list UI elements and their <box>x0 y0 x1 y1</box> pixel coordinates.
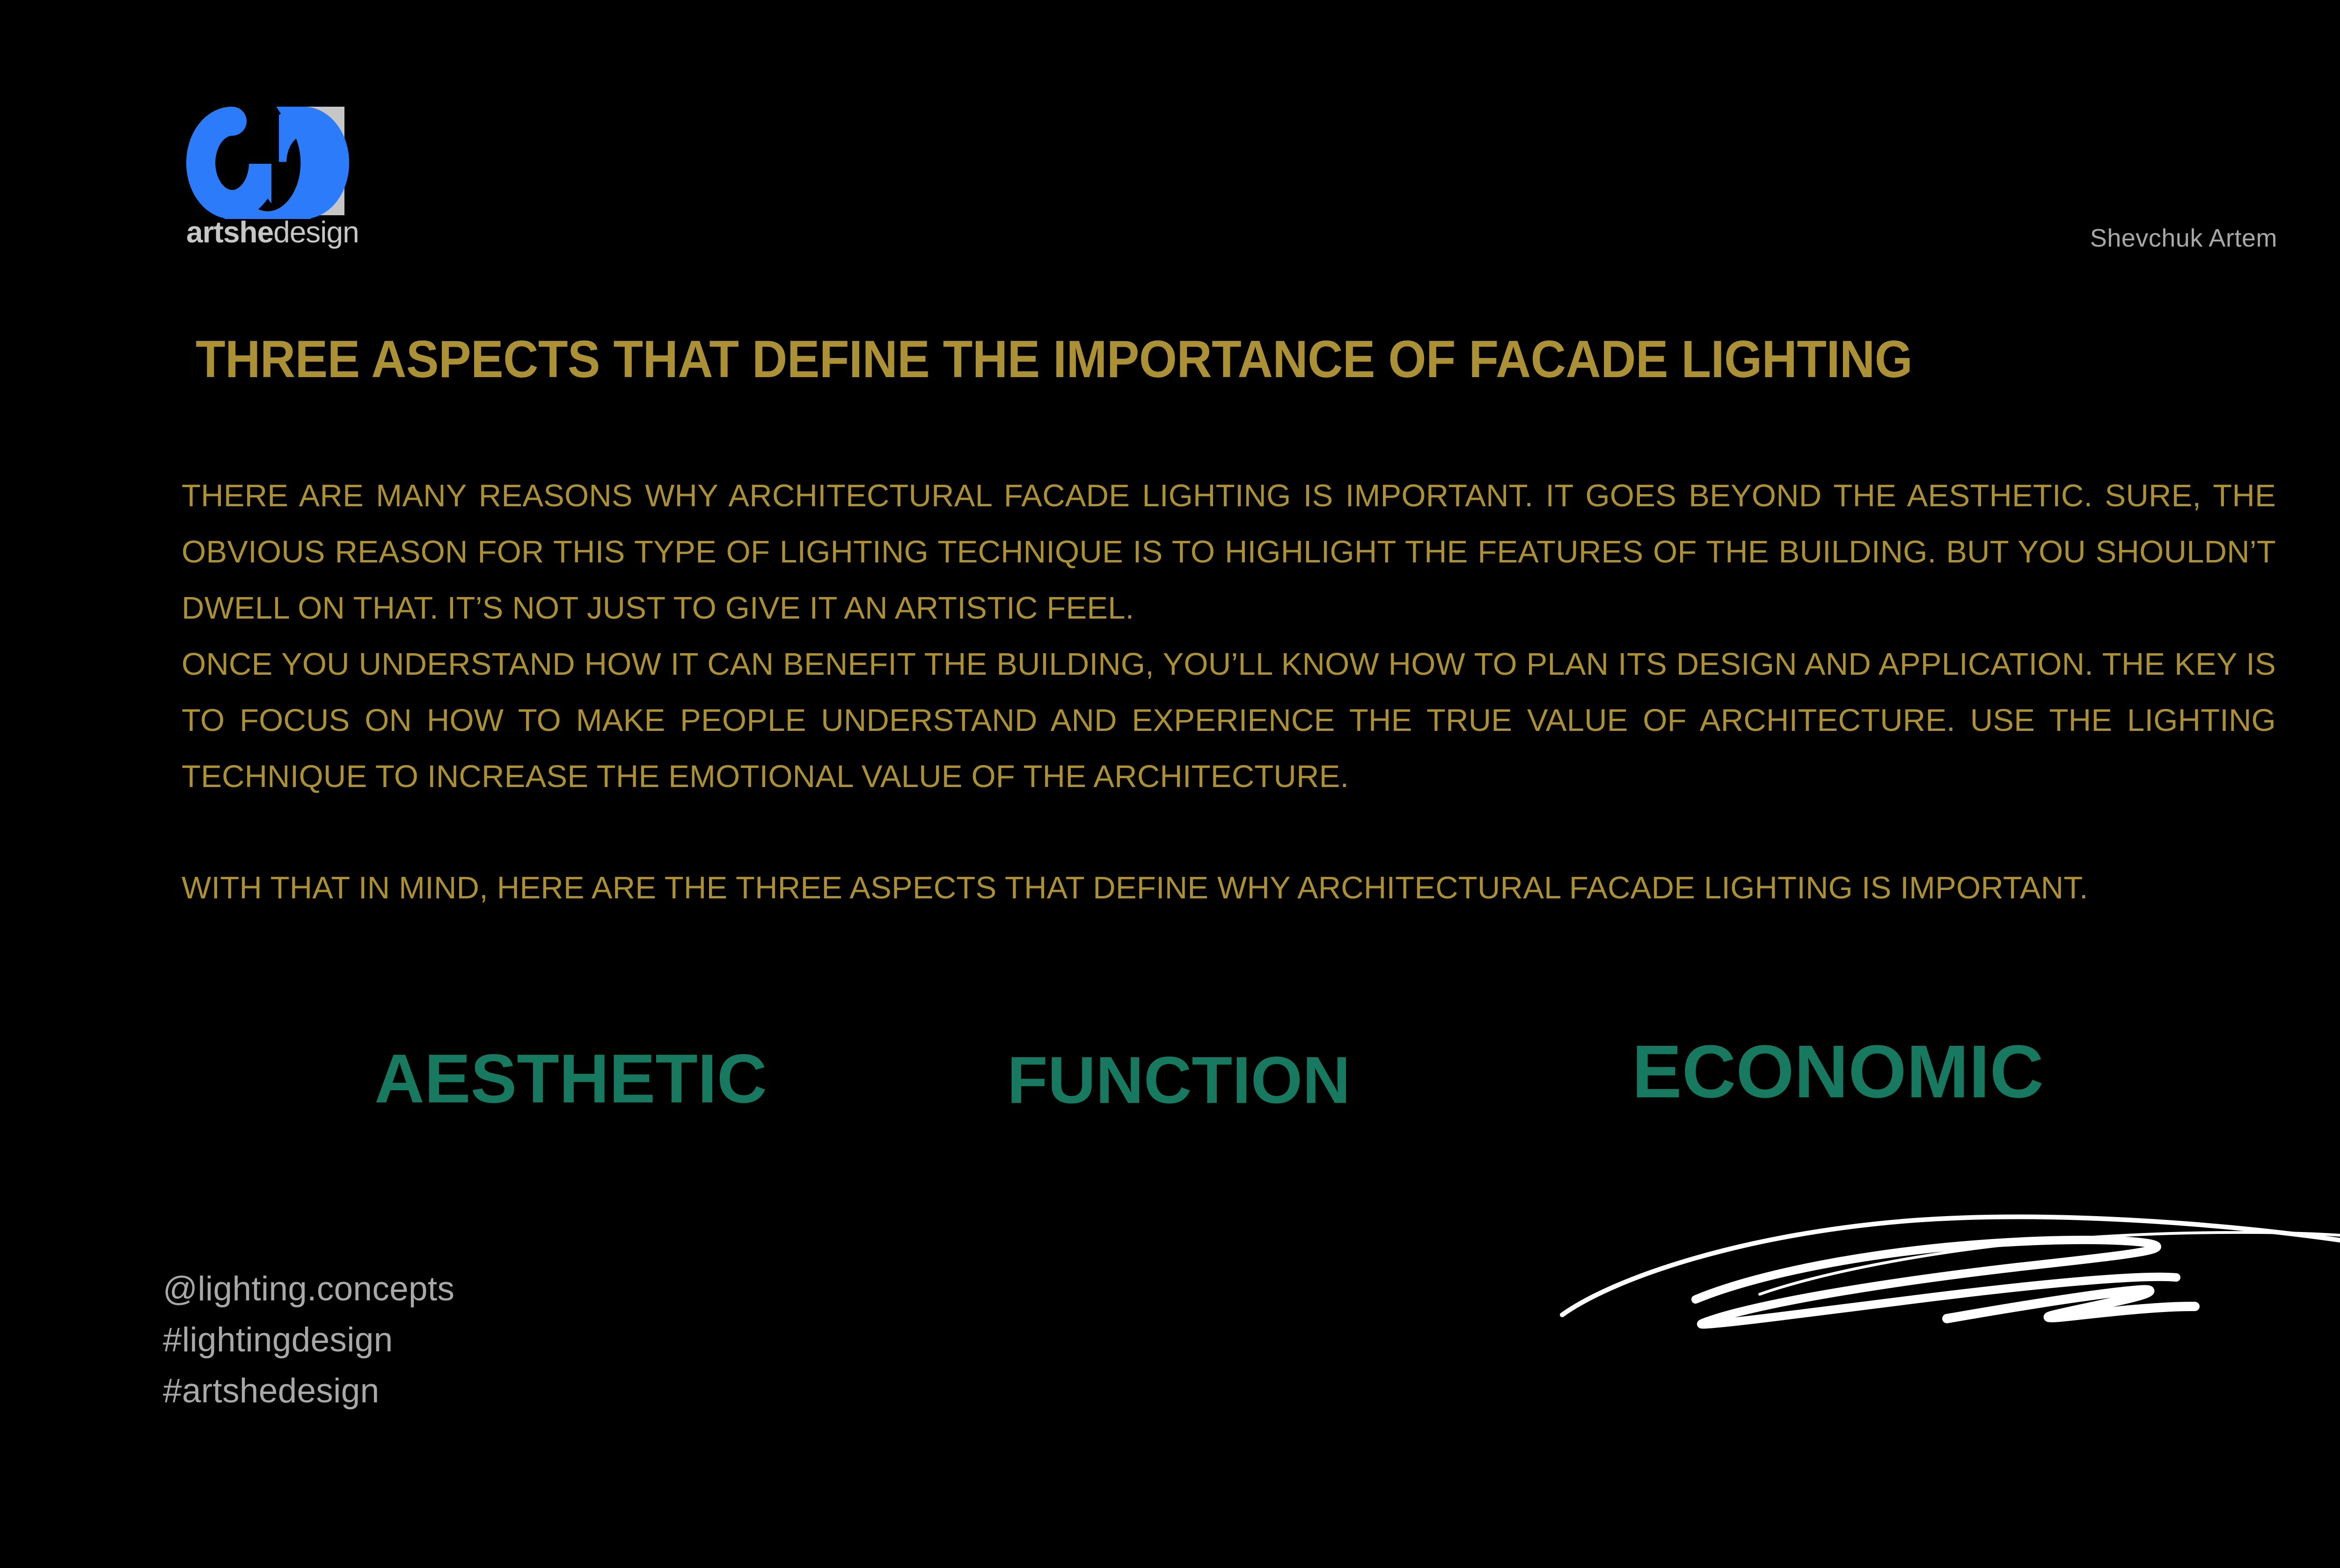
logo-wordmark-bold: artshe <box>186 215 273 249</box>
social-handle[interactable]: @lighting.concepts <box>163 1263 454 1314</box>
social-hashtag-1[interactable]: #lightingdesign <box>163 1314 454 1365</box>
aspect-heading-function: FUNCTION <box>1007 1047 1351 1114</box>
brush-stroke-swoosh-icon <box>1558 1207 2340 1329</box>
paragraph-spacer <box>182 805 2276 860</box>
body-copy: THERE ARE MANY REASONS WHY ARCHITECTURAL… <box>182 468 2276 916</box>
social-links: @lighting.concepts #lightingdesign #arts… <box>163 1263 454 1416</box>
logo-wordmark: artshedesign <box>186 217 359 247</box>
aspect-heading-aesthetic: AESTHETIC <box>374 1044 767 1114</box>
aspect-headings: AESTHETIC FUNCTION ECONOMIC <box>0 1025 2340 1146</box>
author-name: Shevchuk Artem <box>2090 224 2277 253</box>
aspect-heading-economic: ECONOMIC <box>1632 1034 2044 1109</box>
body-paragraph-2: ONCE YOU UNDERSTAND HOW IT CAN BENEFIT T… <box>182 636 2276 805</box>
body-paragraph-1: THERE ARE MANY REASONS WHY ARCHITECTURAL… <box>182 468 2276 636</box>
logo-wordmark-light: design <box>273 215 359 249</box>
artshedesign-infinity-icon <box>186 107 402 219</box>
brand-logo[interactable]: artshedesign <box>186 107 402 266</box>
social-hashtag-2[interactable]: #artshedesign <box>163 1365 454 1416</box>
slide-canvas: artshedesign Shevchuk Artem THREE ASPECT… <box>0 0 2340 1568</box>
body-paragraph-3: WITH THAT IN MIND, HERE ARE THE THREE AS… <box>182 860 2276 916</box>
page-title: THREE ASPECTS THAT DEFINE THE IMPORTANCE… <box>196 333 1912 386</box>
